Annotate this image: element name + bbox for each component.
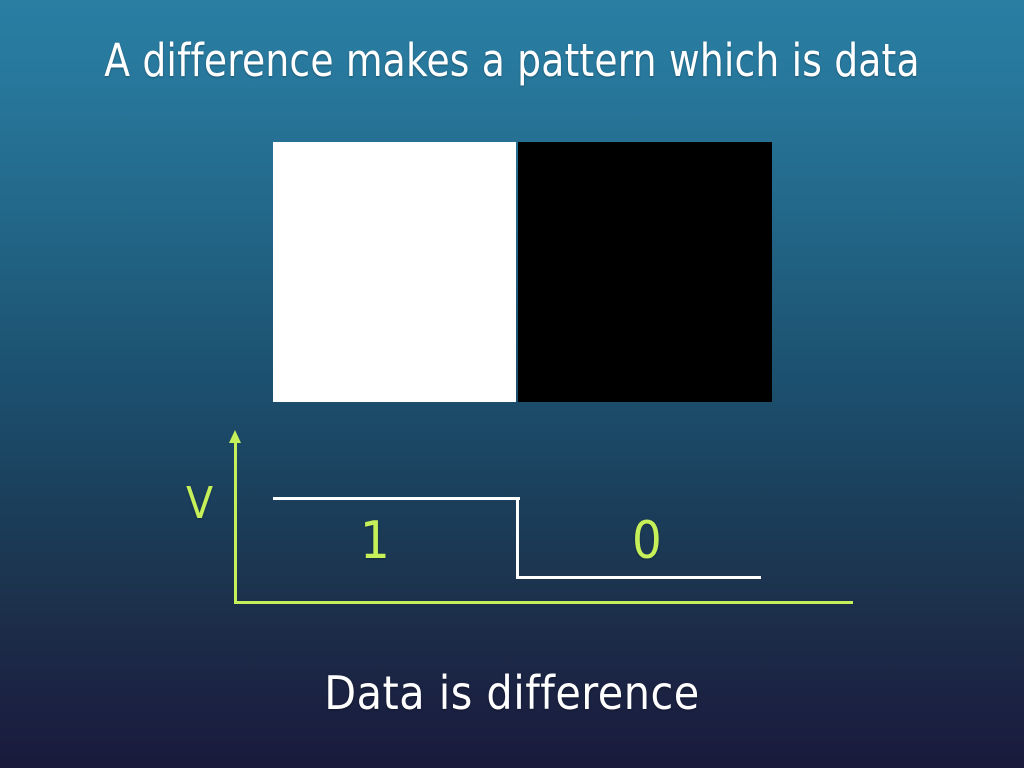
bit-label-one: 1 — [360, 515, 390, 567]
y-axis-label: V — [186, 482, 213, 526]
waveform-high-segment — [273, 497, 520, 500]
waveform-diagram: V 1 0 — [0, 0, 1024, 768]
waveform-low-segment — [516, 576, 761, 579]
bit-label-zero: 0 — [632, 515, 662, 567]
y-axis-line — [234, 440, 237, 604]
slide-caption: Data is difference — [0, 665, 1024, 721]
slide-canvas: A difference makes a pattern which is da… — [0, 0, 1024, 768]
waveform-falling-edge — [516, 497, 519, 579]
x-axis-line — [234, 601, 853, 604]
